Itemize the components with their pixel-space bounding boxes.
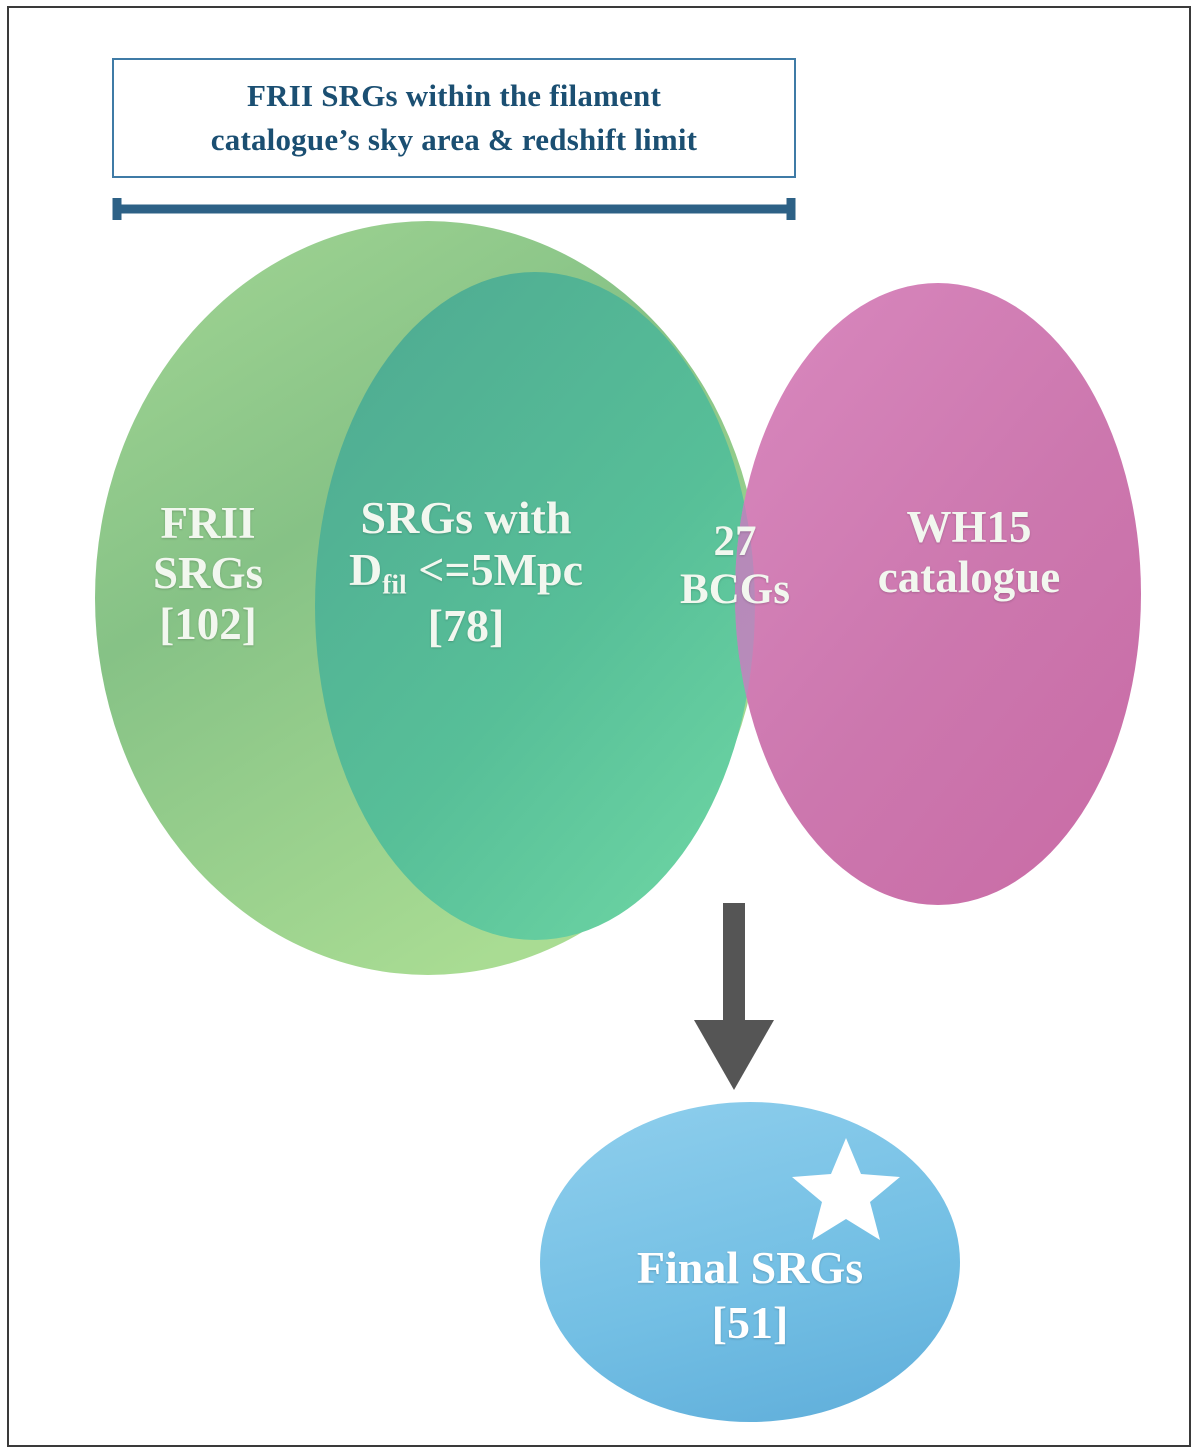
label-frii-count: [102]	[118, 599, 298, 649]
venn-diagram	[0, 0, 1200, 1455]
label-bcg-intersection: 27 BCGs	[650, 518, 820, 614]
label-frii-srgs: FRII SRGs [102]	[118, 498, 298, 649]
label-srgs-dfil: SRGs with Dfil <=5Mpc [78]	[306, 492, 626, 651]
label-dfil-prefix: D	[349, 544, 382, 595]
label-final-srgs: Final SRGs [51]	[570, 1240, 930, 1350]
label-wh15-line1: WH15	[828, 502, 1110, 552]
label-wh15-line2: catalogue	[828, 552, 1110, 602]
label-wh15-catalogue: WH15 catalogue	[828, 502, 1110, 603]
down-arrow-icon	[694, 903, 774, 1090]
label-dfil-count: [78]	[306, 600, 626, 652]
final-srgs-count: [51]	[570, 1295, 930, 1350]
label-dfil-line1: SRGs with	[306, 492, 626, 544]
label-dfil-suffix: <=5Mpc	[407, 544, 583, 595]
label-frii-line1: FRII	[118, 498, 298, 548]
label-dfil-subscript: fil	[382, 568, 407, 599]
label-dfil-line2: Dfil <=5Mpc	[306, 544, 626, 600]
final-srgs-text: Final SRGs	[570, 1240, 930, 1295]
label-bcg-text: BCGs	[650, 566, 820, 614]
label-bcg-count: 27	[650, 518, 820, 566]
label-frii-line2: SRGs	[118, 548, 298, 598]
